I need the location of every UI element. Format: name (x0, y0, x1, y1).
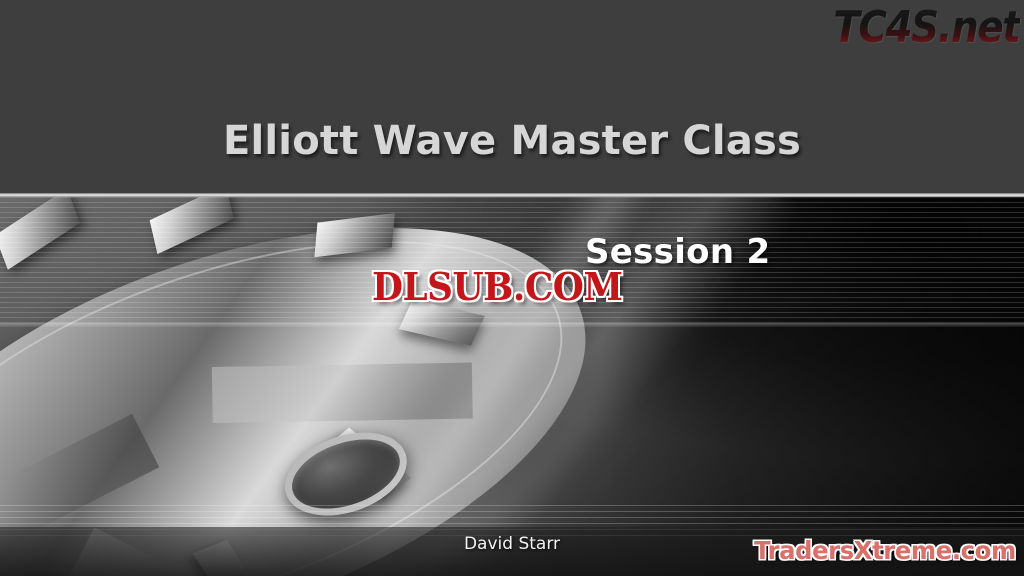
shard-2 (212, 363, 473, 424)
watermark-dlsub: DLSUB.COM (372, 264, 623, 309)
slide-background-image (0, 197, 1024, 576)
page-title: Elliott Wave Master Class (0, 118, 1024, 164)
watermark-tc4s: TC4S.net (834, 2, 1020, 53)
presentation-slide: Elliott Wave Master Class Session 2 Davi… (0, 0, 1024, 576)
marker-3 (150, 197, 234, 254)
watermark-tradersxtreme: TradersXtreme.com (754, 536, 1016, 565)
